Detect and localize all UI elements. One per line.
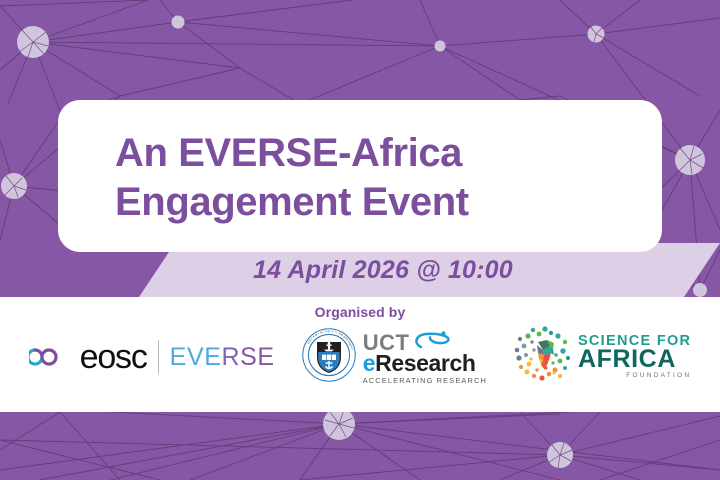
uct-text-block: UCT eResearch ACCELERATING RESEARCH [363, 330, 487, 384]
everse-wordmark: EVERSE [170, 345, 275, 370]
uct-eresearch-logo[interactable]: U n i v e r s i t y o f C [301, 326, 487, 388]
eresearch-e: e [363, 350, 375, 376]
everse-part-1: EVE [170, 343, 222, 371]
event-banner: An EVERSE-Africa Engagement Event 14 Apr… [0, 0, 720, 480]
organised-by-label: Organised by [315, 304, 406, 320]
eosc-infinity-icon [29, 344, 69, 370]
africa-dot-burst-icon [513, 326, 575, 389]
event-date-time: 14 April 2026 @ 10:00 [0, 243, 720, 297]
eosc-everse-lockup[interactable]: eosc EVERSE [29, 334, 275, 380]
eresearch-wordmark: eResearch [363, 352, 487, 375]
everse-part-3: SE [240, 343, 275, 371]
title-line-2: Engagement Event [115, 178, 655, 227]
everse-part-2: R [222, 343, 241, 371]
uct-tagline: ACCELERATING RESEARCH [363, 377, 487, 384]
uct-crest-icon: U n i v e r s i t y o f C [301, 327, 357, 388]
title-line-1: An EVERSE-Africa [115, 129, 655, 178]
eresearch-rest: Research [375, 350, 475, 376]
page-title: An EVERSE-Africa Engagement Event [115, 112, 655, 244]
organiser-logo-row: eosc EVERSE U n i [0, 326, 720, 388]
eosc-wordmark: eosc [80, 340, 147, 374]
organisers-band: Organised by eosc EVERSE [0, 297, 720, 412]
sfa-text-block: SCIENCE FOR AFRICA FOUNDATION [578, 334, 691, 380]
logo-divider [158, 340, 159, 374]
sfa-line-2: AFRICA [578, 347, 691, 372]
science-for-africa-foundation-logo[interactable]: SCIENCE FOR AFRICA FOUNDATION [513, 327, 691, 387]
sfa-line-3: FOUNDATION [578, 373, 691, 380]
